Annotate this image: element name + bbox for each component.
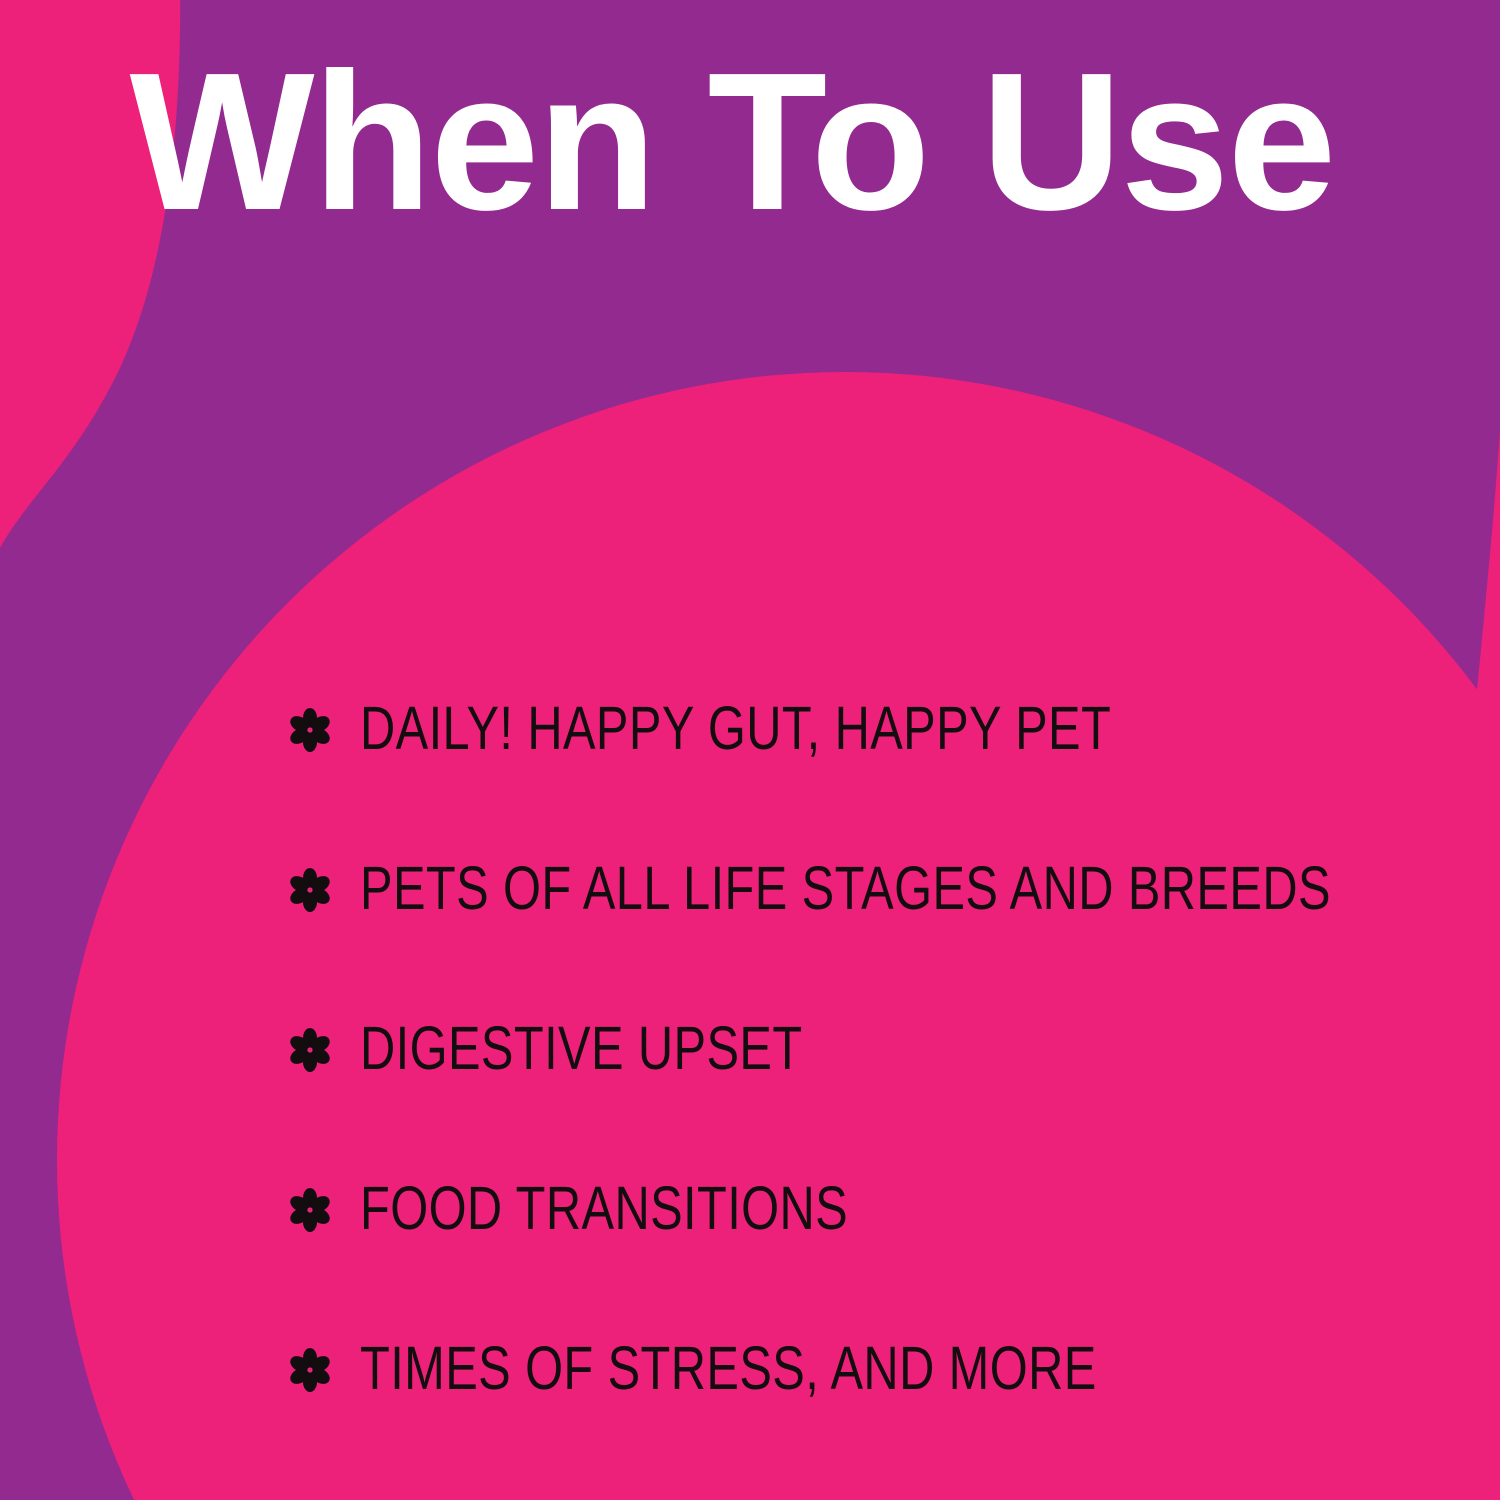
- list-item-label: FOOD TRANSITIONS: [360, 1177, 1246, 1239]
- list-item: FOOD TRANSITIONS: [288, 1168, 1468, 1248]
- list-item: TIMES OF STRESS, AND MORE: [288, 1328, 1468, 1408]
- flower-bullet-icon: [288, 868, 332, 912]
- infographic-canvas: When To Use DAILY! HAPPY GUT, HAPPY: [0, 0, 1500, 1500]
- list-item: PETS OF ALL LIFE STAGES AND BREEDS: [288, 848, 1468, 928]
- list-item-label: DIGESTIVE UPSET: [360, 1017, 1246, 1079]
- flower-bullet-icon: [288, 1188, 332, 1232]
- flower-bullet-icon: [288, 1028, 332, 1072]
- flower-bullet-icon: [288, 708, 332, 752]
- flower-bullet-icon: [288, 1348, 332, 1392]
- list-item-label: TIMES OF STRESS, AND MORE: [360, 1337, 1246, 1399]
- when-to-use-list: DAILY! HAPPY GUT, HAPPY PET PETS OF AL: [288, 688, 1468, 1408]
- list-item-label: PETS OF ALL LIFE STAGES AND BREEDS: [360, 857, 1331, 919]
- list-item: DIGESTIVE UPSET: [288, 1008, 1468, 1088]
- list-item-label: DAILY! HAPPY GUT, HAPPY PET: [360, 697, 1246, 759]
- list-item: DAILY! HAPPY GUT, HAPPY PET: [288, 688, 1468, 768]
- page-title: When To Use: [0, 42, 1500, 242]
